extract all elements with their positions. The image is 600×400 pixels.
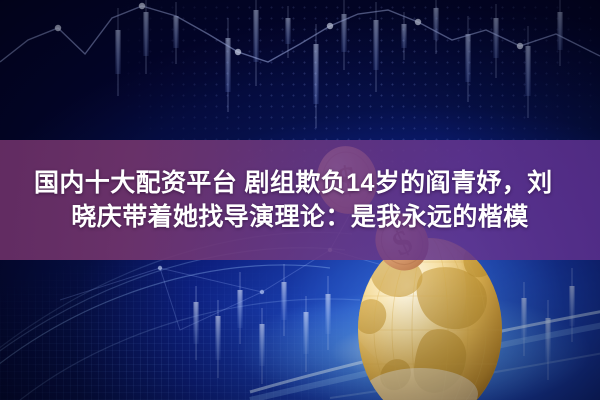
- candle-body: [238, 290, 243, 328]
- trend-node: [139, 3, 145, 9]
- candle-body: [494, 18, 499, 58]
- headline-line-2: 晓庆带着她找导演理论：是我永远的楷模: [71, 200, 528, 235]
- trend-node: [327, 23, 333, 29]
- candle-body: [342, 14, 347, 52]
- candle-body: [522, 298, 527, 340]
- candle-body: [216, 316, 221, 360]
- globe-bottom-highlight: [362, 368, 478, 400]
- candle-body: [570, 286, 575, 326]
- candlestick-group-bottom: [194, 264, 575, 384]
- candle-body: [282, 282, 287, 320]
- candle-body: [374, 20, 379, 70]
- candle-body: [304, 312, 309, 354]
- trend-node: [235, 49, 241, 55]
- candle-body: [526, 46, 531, 96]
- candle-body: [116, 30, 121, 74]
- light-sweep-group: [250, 308, 600, 400]
- candle-body: [226, 38, 231, 92]
- candle-body: [326, 294, 331, 334]
- candlestick-group-top: [116, 0, 563, 128]
- candle-body: [194, 302, 199, 344]
- trend-line: [0, 6, 600, 62]
- candle-body: [254, 10, 259, 62]
- globe-body: [358, 238, 502, 400]
- trend-line-nodes: [55, 3, 523, 55]
- candle-body: [466, 34, 471, 82]
- headline-line-1: 国内十大配资平台 剧组欺负14岁的阎青妤，刘: [34, 166, 553, 201]
- candle-body: [260, 324, 265, 366]
- trend-node: [517, 43, 523, 49]
- candle-body: [434, 8, 439, 40]
- trend-node: [55, 25, 61, 31]
- candle-body: [558, 12, 563, 50]
- trend-node: [415, 19, 421, 25]
- headline-band: 国内十大配资平台 剧组欺负14岁的阎青妤，刘 晓庆带着她找导演理论：是我永远的楷…: [0, 140, 600, 260]
- candle-body: [546, 318, 551, 362]
- candle-body: [144, 12, 149, 56]
- candle-body: [174, 16, 179, 48]
- news-banner: $ $ 国内十大配资平台 剧组欺负14岁的阎青妤，刘 晓庆带着她找导演理论：是我…: [0, 0, 600, 400]
- candle-body: [286, 18, 291, 44]
- candle-body: [402, 24, 407, 48]
- candle-body: [314, 44, 319, 104]
